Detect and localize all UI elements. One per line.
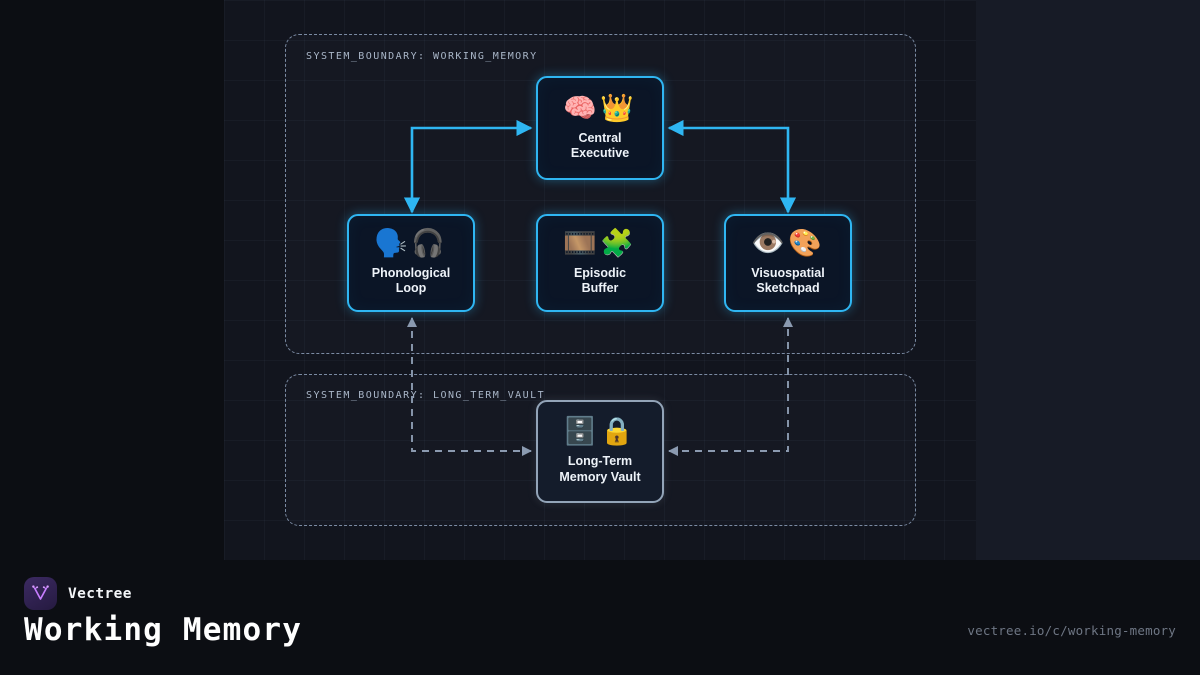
node-phonological-loop-label: Phonological Loop (372, 266, 450, 297)
vectree-logo-icon (24, 577, 57, 610)
footer-url: vectree.io/c/working-memory (967, 623, 1176, 638)
brand-name: Vectree (68, 586, 132, 602)
node-central-executive[interactable]: 🧠👑 Central Executive (536, 76, 664, 180)
footer: Vectree Working Memory (0, 560, 1200, 675)
node-central-executive-icons: 🧠👑 (563, 95, 636, 122)
node-phonological-loop-icons: 🗣️🎧 (374, 230, 447, 257)
vectree-glyph-icon (31, 584, 50, 603)
node-visuospatial-sketchpad[interactable]: 👁️🎨 Visuospatial Sketchpad (724, 214, 852, 312)
node-episodic-buffer[interactable]: 🎞️🧩 Episodic Buffer (536, 214, 664, 312)
node-long-term-memory-vault[interactable]: 🗄️🔒 Long-Term Memory Vault (536, 400, 664, 503)
node-visuospatial-sketchpad-icons: 👁️🎨 (751, 230, 824, 257)
edge-visuospatial-sketchpad-memory-vault (669, 318, 788, 451)
node-visuospatial-sketchpad-label: Visuospatial Sketchpad (751, 266, 824, 297)
edge-phonological-loop-memory-vault (412, 318, 531, 451)
node-long-term-memory-vault-icons: 🗄️🔒 (563, 418, 636, 445)
node-episodic-buffer-icons: 🎞️🧩 (563, 230, 636, 257)
node-episodic-buffer-label: Episodic Buffer (574, 266, 626, 297)
brand: Vectree (24, 577, 132, 610)
edge-central-executive-visuospatial-sketchpad (669, 128, 788, 212)
node-long-term-memory-vault-label: Long-Term Memory Vault (559, 454, 640, 485)
node-phonological-loop[interactable]: 🗣️🎧 Phonological Loop (347, 214, 475, 312)
page-title: Working Memory (24, 612, 302, 648)
node-central-executive-label: Central Executive (571, 131, 629, 162)
diagram-page: SYSTEM_BOUNDARY: WORKING_MEMORY SYSTEM_B… (0, 0, 1200, 675)
edge-central-executive-phonological-loop (412, 128, 531, 212)
